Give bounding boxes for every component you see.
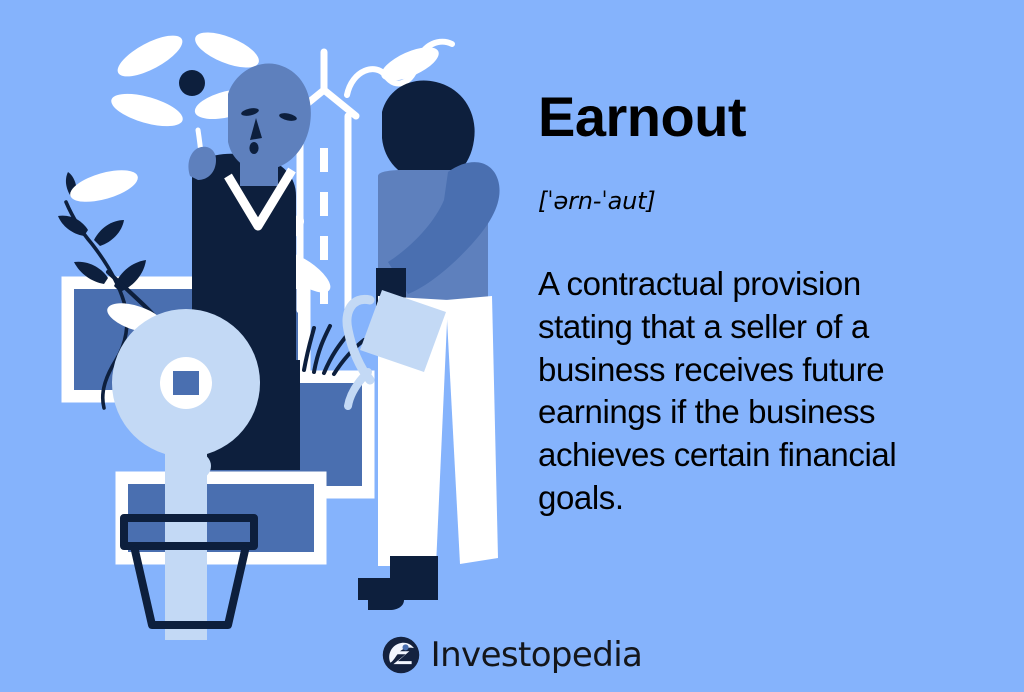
investopedia-logo-mark-icon [382,636,420,674]
key-hole-inner [173,371,199,395]
page-title: Earnout [538,88,958,147]
key-bump-1 [185,453,211,479]
definition-text: A contractual provision stating that a s… [538,263,958,520]
person2-trousers-right [446,296,498,564]
pronunciation-text: [ˈərn-ˈaut] [538,187,958,215]
investopedia-wordmark: Investopedia [431,638,643,672]
person1-neck [240,150,278,186]
person2-boot-block [390,556,438,600]
earnout-flat-illustration [0,0,530,640]
person2-boot-toe [358,578,396,600]
dandelion-center [179,70,205,96]
definition-text-panel: Earnout [ˈərn-ˈaut] A contractual provis… [538,88,958,520]
key-bump-3 [175,589,197,611]
earnout-definition-card: Earnout [ˈərn-ˈaut] A contractual provis… [0,0,1024,692]
brand-footer: Investopedia [0,636,1024,674]
